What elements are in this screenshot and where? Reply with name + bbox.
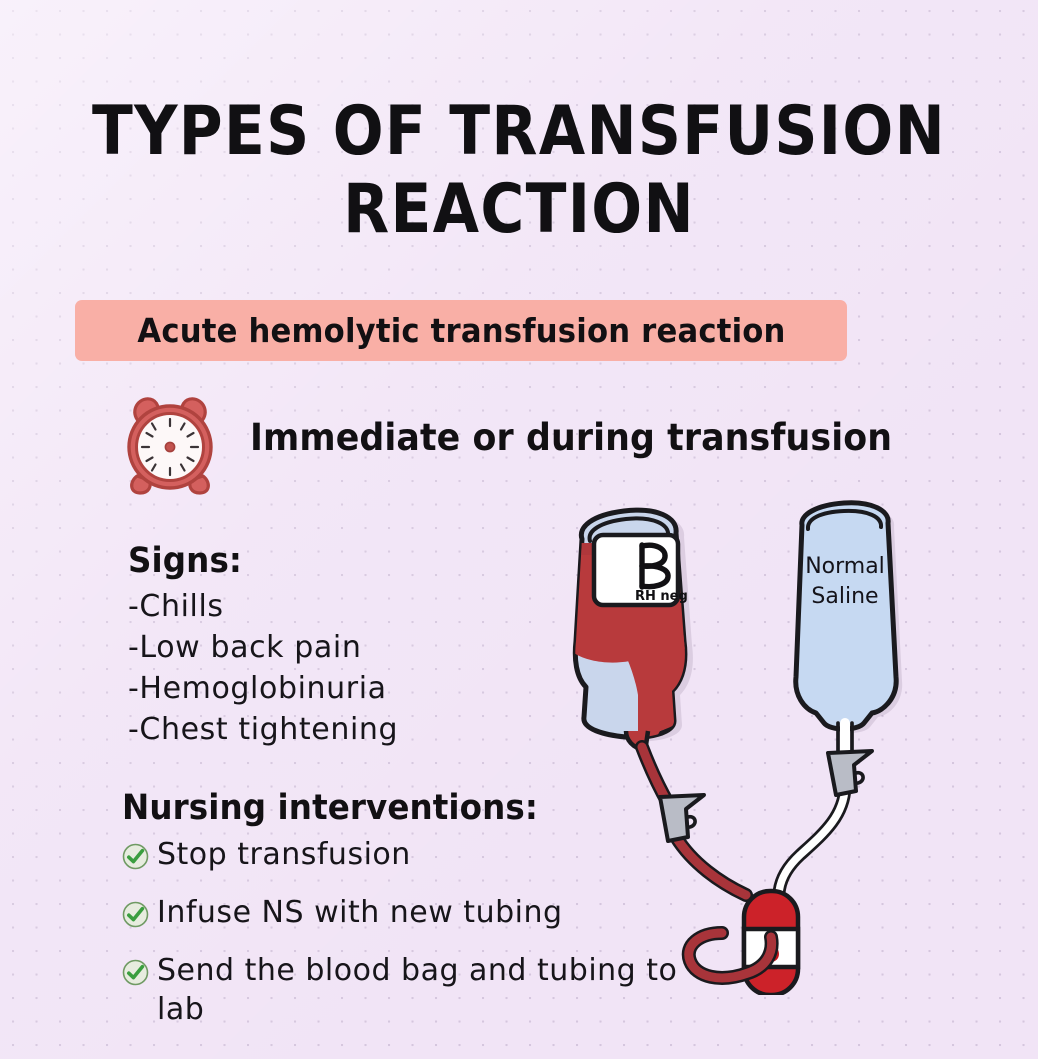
saline-tubing	[779, 723, 852, 893]
timing-row: Immediate or during transfusion	[106, 388, 926, 500]
interventions-list: Stop transfusion Infuse NS with new tubi…	[122, 835, 722, 1029]
roller-clamp-saline	[828, 751, 872, 795]
reaction-type-label: Acute hemolytic transfusion reaction	[137, 313, 785, 349]
list-item: Stop transfusion	[122, 835, 717, 874]
title-line-1: TYPES OF TRANSFUSION	[62, 93, 975, 171]
page-title: TYPES OF TRANSFUSION REACTION	[0, 93, 1038, 249]
intervention-label: Send the blood bag and tubing to lab	[157, 953, 677, 1027]
infographic-poster: TYPES OF TRANSFUSION REACTION Acute hemo…	[0, 0, 1038, 1059]
reaction-type-banner: Acute hemolytic transfusion reaction	[75, 300, 847, 361]
green-check-circle-icon	[122, 957, 149, 984]
intervention-label: Stop transfusion	[157, 837, 411, 872]
timing-label: Immediate or during transfusion	[250, 415, 892, 461]
list-item: Send the blood bag and tubing to lab	[122, 951, 717, 1029]
interventions-section: Nursing interventions: Stop transfusion	[122, 787, 722, 1048]
list-item: Infuse NS with new tubing	[122, 893, 717, 932]
saline-bag: Normal Saline	[796, 503, 896, 729]
signs-list: -Chills -Low back pain -Hemoglobinuria -…	[128, 586, 568, 750]
green-check-circle-icon	[122, 899, 149, 926]
signs-heading: Signs:	[128, 540, 537, 582]
intervention-label: Infuse NS with new tubing	[157, 895, 563, 930]
blood-bag: RH neg	[574, 510, 692, 749]
green-check-circle-icon	[122, 841, 149, 868]
list-item: -Chills	[128, 586, 568, 627]
saline-bag-label-line1: Normal	[805, 554, 885, 579]
title-line-2: REACTION	[62, 171, 975, 249]
list-item: -Hemoglobinuria	[128, 668, 568, 709]
blood-bag-rh-label: RH neg	[635, 589, 688, 604]
list-item: -Chest tightening	[128, 709, 568, 750]
alarm-clock-icon	[116, 390, 224, 498]
saline-bag-label-line2: Saline	[811, 584, 878, 609]
interventions-heading: Nursing interventions:	[122, 787, 680, 829]
signs-section: Signs: -Chills -Low back pain -Hemoglobi…	[128, 540, 568, 750]
list-item: -Low back pain	[128, 627, 568, 668]
